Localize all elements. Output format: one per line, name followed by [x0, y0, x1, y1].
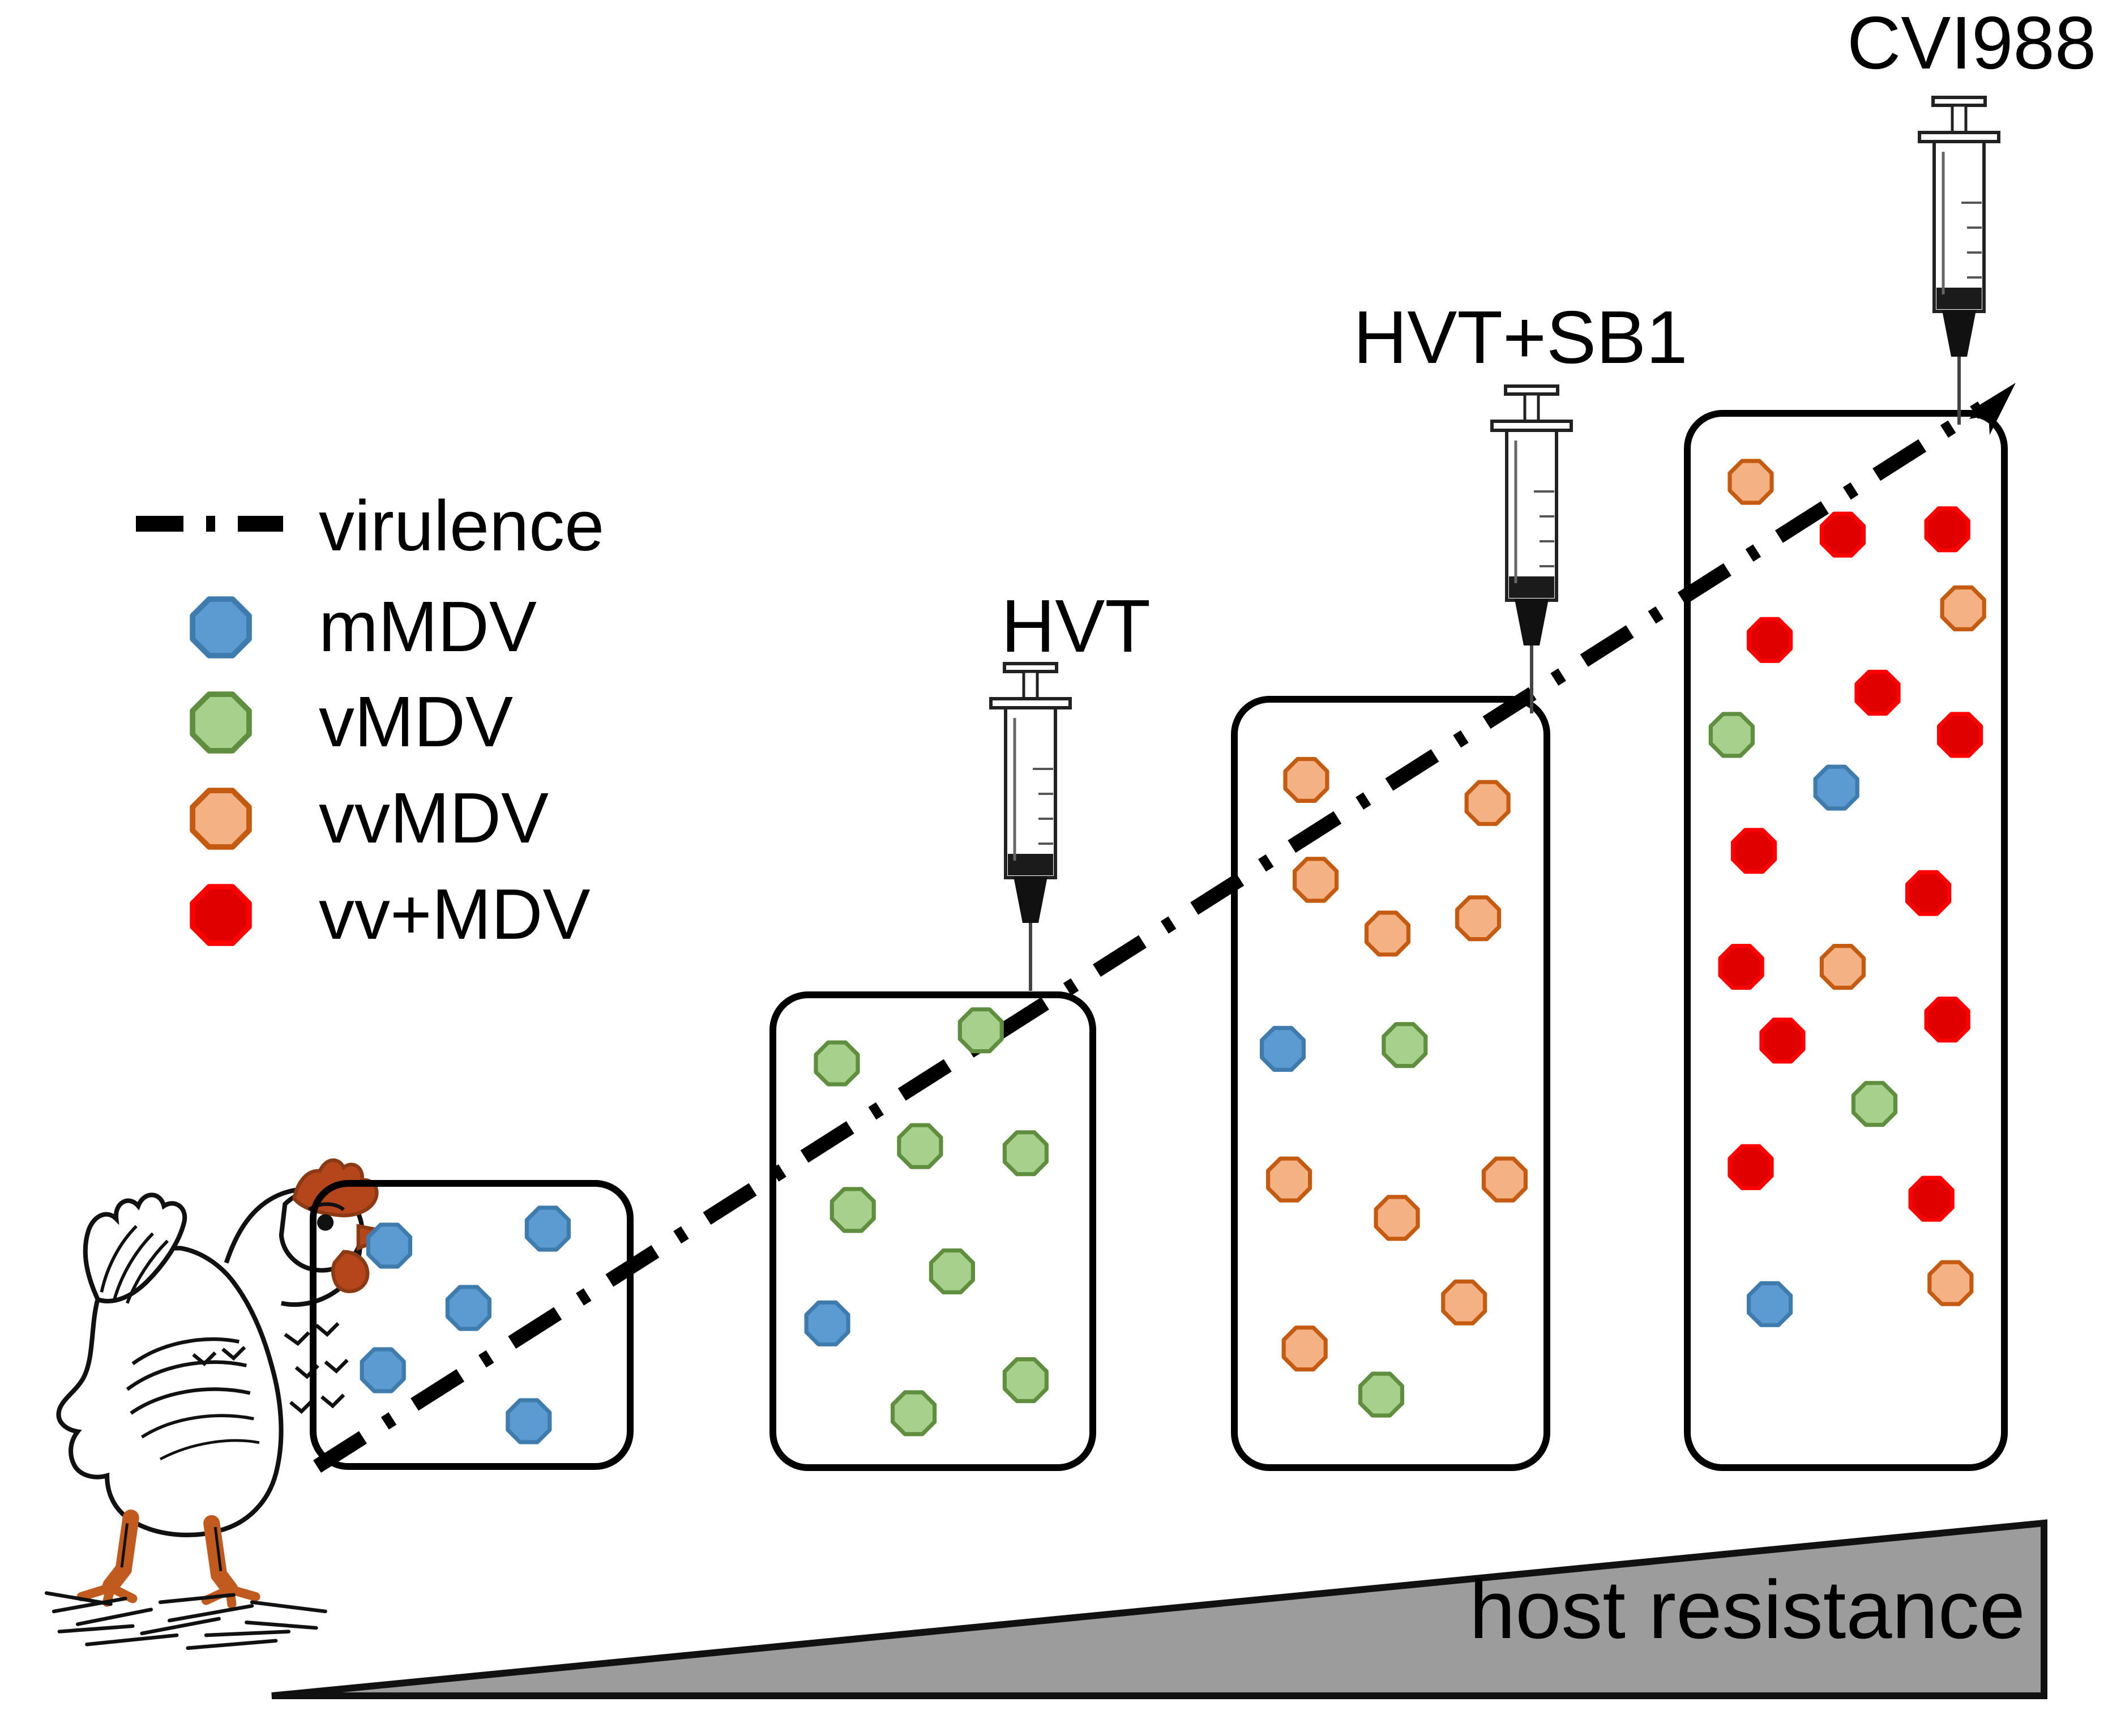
virus-marker-mMDV — [806, 1302, 848, 1344]
virus-marker-vv+MDV — [1908, 872, 1949, 914]
virus-marker-vvMDV — [1457, 897, 1499, 939]
syringe-icon-hvt — [991, 664, 1070, 991]
legend-marker-vMDV — [193, 694, 249, 751]
population-box-3 — [1687, 413, 2004, 1468]
virus-marker-vvMDV — [1367, 913, 1409, 955]
legend-label-mmdv: mMDV — [319, 591, 537, 662]
virus-marker-mMDV — [368, 1225, 410, 1267]
virus-marker-vMDV — [1853, 1083, 1895, 1125]
virus-marker-vvMDV — [1268, 1158, 1310, 1200]
virus-marker-vvMDV — [1821, 946, 1863, 988]
virus-marker-vMDV — [832, 1189, 874, 1231]
population-box-2 — [1234, 699, 1547, 1468]
virus-marker-vvMDV — [1730, 461, 1772, 503]
virus-marker-vv+MDV — [1926, 999, 1968, 1041]
virus-marker-mMDV — [447, 1287, 489, 1329]
diagram-canvas: HVT HVT+SB1 CVI988 virulence mMDV vMDV v… — [0, 0, 2108, 1736]
virus-marker-mMDV — [508, 1400, 550, 1442]
diagram-svg — [0, 0, 2108, 1736]
virus-marker-vv+MDV — [1720, 946, 1762, 988]
virus-marker-vvMDV — [1295, 859, 1337, 901]
syringe-icon-hvtsb1 — [1492, 386, 1571, 713]
virus-marker-vv+MDV — [1761, 1020, 1803, 1062]
virus-marker-vMDV — [1004, 1359, 1046, 1401]
virus-marker-vMDV — [931, 1251, 973, 1293]
virus-marker-mMDV — [1815, 767, 1857, 809]
population-box-1 — [773, 995, 1093, 1468]
virus-marker-vv+MDV — [1733, 830, 1775, 872]
virus-marker-vv+MDV — [1730, 1146, 1772, 1188]
legend-label-virulence: virulence — [319, 490, 604, 562]
virus-marker-vMDV — [899, 1125, 941, 1167]
virus-marker-vMDV — [816, 1042, 858, 1084]
virus-marker-mMDV — [362, 1349, 404, 1391]
legend-marker-mMDV — [193, 599, 249, 656]
virus-marker-vv+MDV — [1910, 1178, 1952, 1220]
virus-marker-vMDV — [1384, 1024, 1426, 1066]
legend-marker-vv+MDV — [193, 887, 249, 943]
virus-marker-vv+MDV — [1926, 508, 1968, 550]
legend-marker-vvMDV — [193, 790, 249, 847]
virus-marker-mMDV — [1262, 1028, 1304, 1070]
virus-marker-vMDV — [1004, 1132, 1046, 1174]
virus-marker-vMDV — [960, 1010, 1002, 1051]
vaccine-label-hvtsb1: HVT+SB1 — [1353, 300, 1688, 375]
virus-marker-mMDV — [1749, 1283, 1791, 1325]
virus-marker-vMDV — [893, 1392, 935, 1434]
virus-marker-vvMDV — [1942, 588, 1984, 630]
virus-marker-vv+MDV — [1749, 619, 1791, 661]
axis-label-host-resistance: host resistance — [1469, 1568, 2025, 1651]
population-box-0 — [313, 1183, 630, 1466]
virus-marker-vv+MDV — [1939, 714, 1981, 756]
legend-label-vvplusmdv: vv+MDV — [319, 879, 591, 950]
virus-marker-vvMDV — [1484, 1158, 1526, 1200]
virus-marker-vvMDV — [1930, 1262, 1972, 1304]
virus-marker-vvMDV — [1376, 1197, 1418, 1239]
legend — [136, 524, 283, 943]
virus-marker-vvMDV — [1466, 782, 1508, 824]
legend-label-vmdv: vMDV — [319, 686, 513, 758]
virus-marker-vv+MDV — [1857, 672, 1899, 714]
population-box-outline — [1687, 413, 2004, 1468]
virus-marker-vvMDV — [1285, 759, 1327, 801]
virus-marker-vvMDV — [1284, 1328, 1325, 1370]
legend-label-vvmdv: vvMDV — [319, 783, 549, 854]
syringe-icon-cvi988 — [1919, 97, 1999, 425]
virus-marker-vMDV — [1361, 1374, 1403, 1416]
virus-marker-vMDV — [1711, 714, 1752, 756]
vaccine-label-cvi988: CVI988 — [1847, 6, 2096, 80]
virus-marker-vvMDV — [1443, 1281, 1485, 1323]
vaccine-label-hvt: HVT — [1001, 589, 1151, 664]
virus-marker-vv+MDV — [1821, 514, 1863, 555]
virus-marker-mMDV — [527, 1208, 568, 1250]
